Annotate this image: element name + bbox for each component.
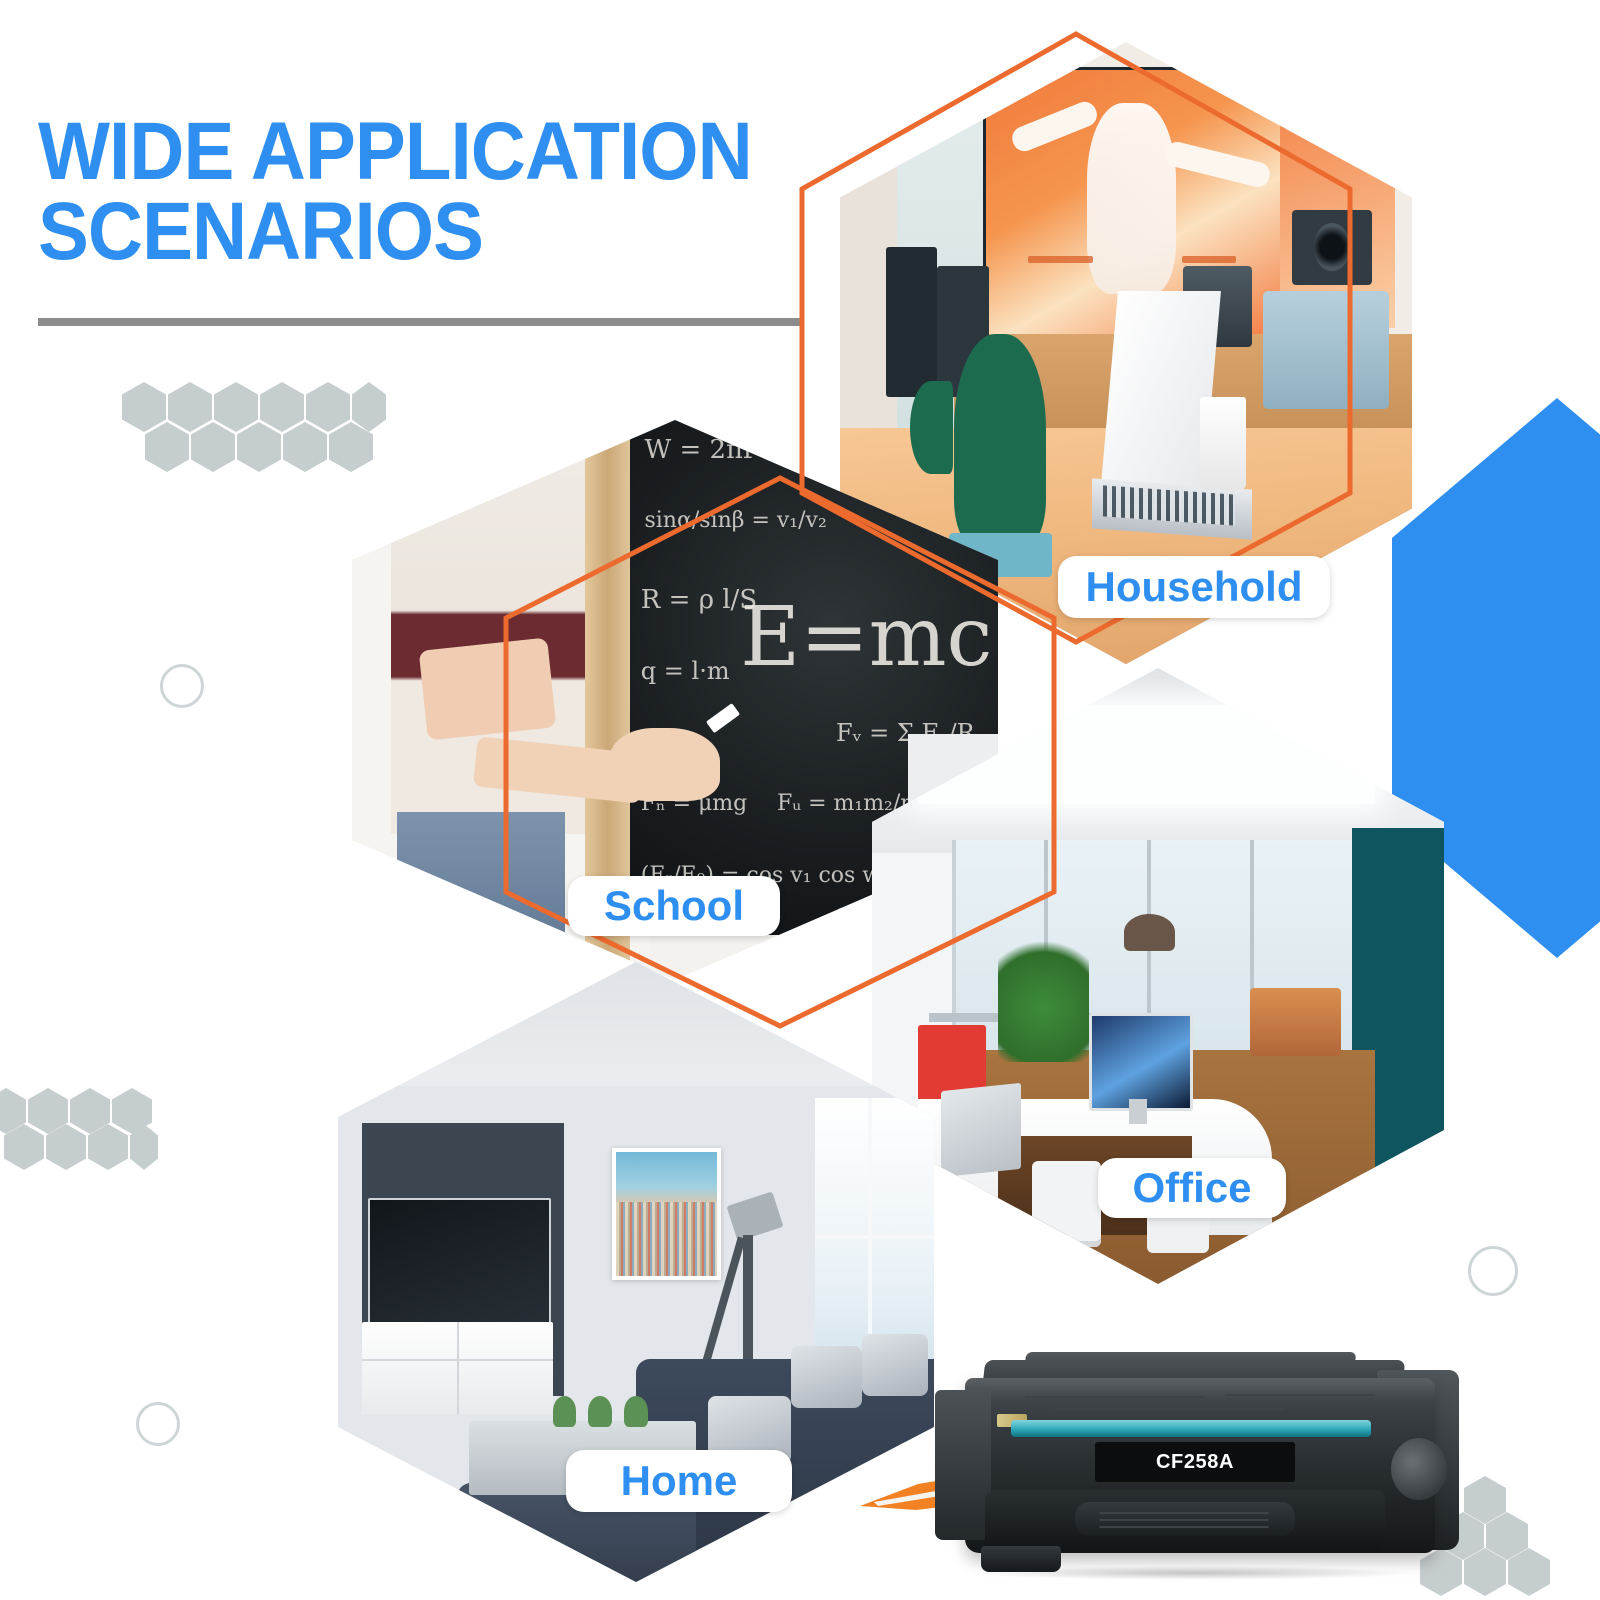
cartridge-drum-roller bbox=[1011, 1420, 1371, 1437]
label-badge-home[interactable]: Home bbox=[566, 1450, 792, 1512]
decor-circle-2 bbox=[136, 1402, 180, 1446]
title-line-2: SCENARIOS bbox=[38, 192, 856, 272]
cartridge-handle bbox=[1075, 1502, 1295, 1536]
infographic-canvas: WIDE APPLICATION SCENARIOS bbox=[0, 0, 1600, 1600]
label-badge-school[interactable]: School bbox=[568, 876, 780, 936]
page-title: WIDE APPLICATION SCENARIOS bbox=[38, 112, 918, 273]
label-text-school: School bbox=[604, 882, 744, 930]
title-line-1: WIDE APPLICATION bbox=[38, 112, 856, 192]
cartridge-left-end-cap bbox=[935, 1390, 991, 1540]
title-divider bbox=[38, 318, 800, 326]
label-badge-office[interactable]: Office bbox=[1098, 1158, 1286, 1218]
label-text-household: Household bbox=[1086, 563, 1303, 611]
label-badge-household[interactable]: Household bbox=[1058, 556, 1330, 618]
cartridge-model-label: CF258A bbox=[1095, 1442, 1295, 1482]
cartridge-model-text: CF258A bbox=[1156, 1451, 1234, 1474]
cartridge-foot bbox=[981, 1546, 1061, 1572]
cartridge-gear-knob bbox=[1391, 1438, 1447, 1500]
label-text-home: Home bbox=[621, 1457, 738, 1505]
decor-circle-3 bbox=[1468, 1246, 1518, 1296]
label-text-office: Office bbox=[1132, 1164, 1251, 1212]
decor-circle-1 bbox=[160, 664, 204, 708]
toner-cartridge-product[interactable]: CF258A bbox=[925, 1330, 1485, 1595]
